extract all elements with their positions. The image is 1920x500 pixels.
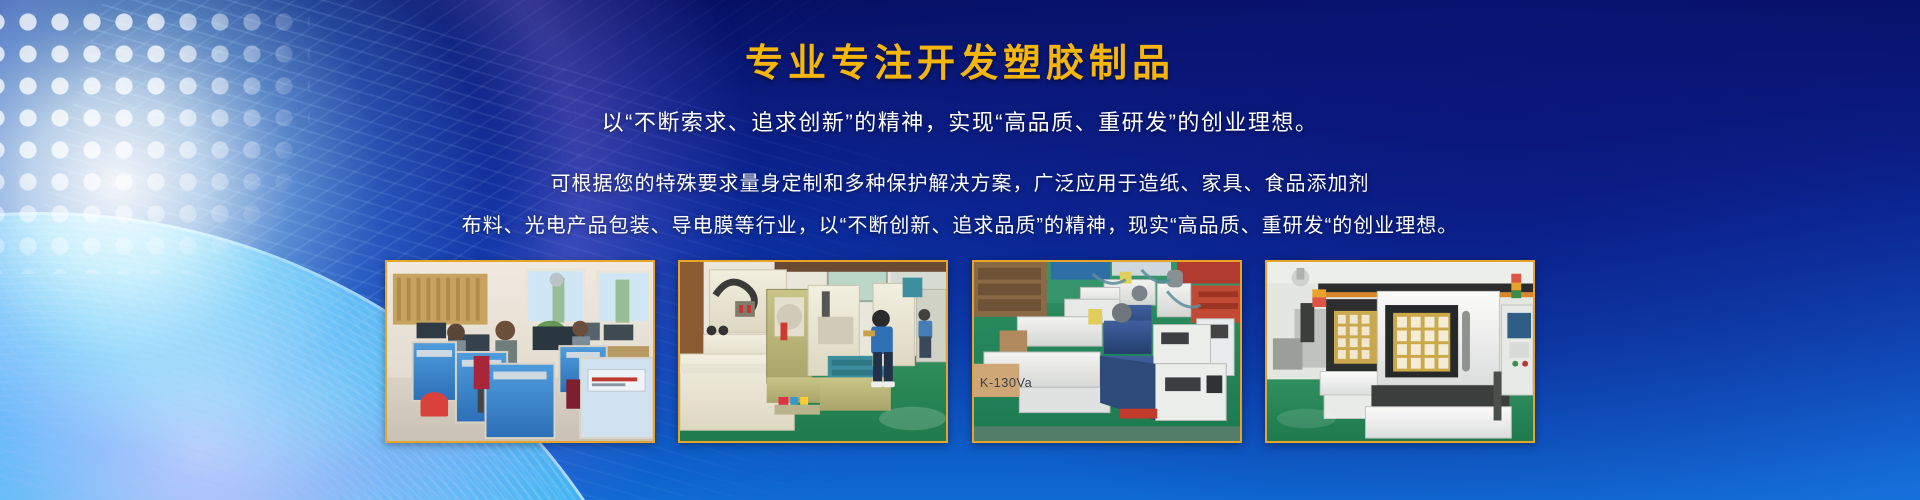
photo-injection-molding-line[interactable]: K-130Va 注塑机生产线 K-130Va	[972, 260, 1242, 443]
promo-banner: 专业专注开发塑胶制品 以“不断索求、追求创新”的精神，实现“高品质、重研发”的创…	[0, 0, 1920, 500]
photo-tooling-workshop[interactable]: 模具加工车间	[678, 260, 948, 443]
photo-office-workstations[interactable]: 办公区	[385, 260, 655, 443]
photo-cnc-machining-center[interactable]: CNC加工中心	[1265, 260, 1535, 443]
factory-photo-strip: 办公区	[385, 260, 1535, 443]
banner-body-line-2: 布料、光电产品包装、导电膜等行业，以“不断创新、追求品质”的精神，现实“高品质、…	[0, 212, 1920, 240]
banner-subheadline: 以“不断索求、追求创新”的精神，实现“高品质、重研发”的创业理想。	[0, 108, 1920, 138]
banner-content: 专业专注开发塑胶制品 以“不断索求、追求创新”的精神，实现“高品质、重研发”的创…	[0, 42, 1920, 443]
banner-headline: 专业专注开发塑胶制品	[0, 42, 1920, 86]
banner-body-line-1: 可根据您的特殊要求量身定制和多种保护解决方案，广泛应用于造纸、家具、食品添加剂	[0, 170, 1920, 198]
svg-text:K-130Va: K-130Va	[980, 375, 1033, 390]
